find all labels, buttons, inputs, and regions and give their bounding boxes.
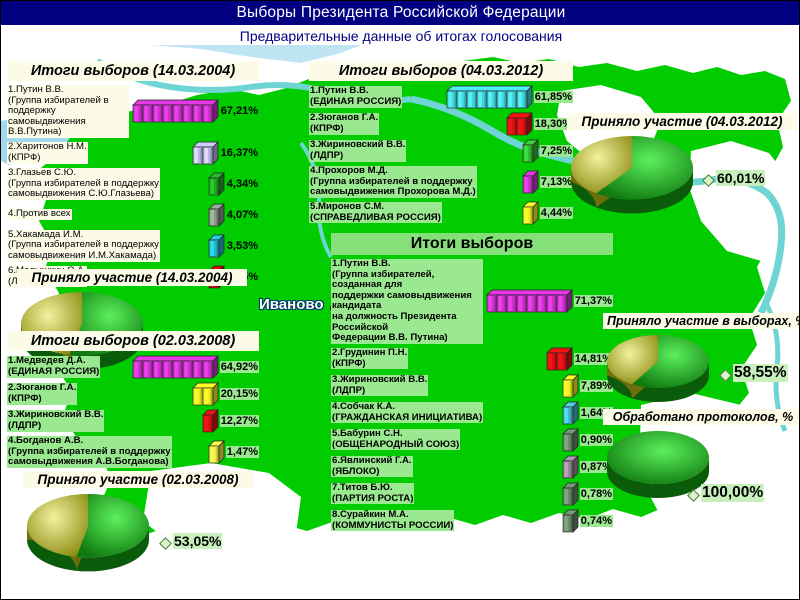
candidate-bar-icon (562, 428, 579, 452)
candidate-bar-group: 3,53% (205, 234, 259, 258)
candidate-bar-icon (562, 374, 579, 398)
candidate-row: 5.Бабурин С.Н.(ОБЩЕНАРОДНЫЙ СОЮЗ)0,90% (331, 428, 613, 452)
pie-title-turnout-2008: Приняло участие (02.03.2008) (23, 471, 253, 488)
candidate-bar-icon (562, 401, 579, 425)
candidate-row: 1.Путин В.В.(Группа избирателей в поддер… (7, 85, 259, 138)
candidate-row: 2.Харитонов Н.М.(КПРФ)16,37% (7, 141, 259, 165)
candidate-bar-icon (522, 170, 539, 194)
candidate-row: 4.Против всех4,07% (7, 203, 259, 227)
candidate-name: 4.Прохоров М.Д.(Группа избирателей в под… (309, 166, 477, 198)
panel-results-2012: Итоги выборов (04.03.2012) 1.Путин В.В.(… (309, 61, 573, 228)
candidate-row: 1.Медведев Д.А.(ЕДИНАЯ РОССИЯ)64,92% (7, 355, 259, 379)
pie-turnout-2008: Приняло участие (02.03.2008) 53,05% (23, 471, 253, 584)
candidate-bar-icon (208, 440, 225, 464)
panel-results-2008: Итоги выборов (02.03.2008) 1.Медведев Д.… (7, 331, 259, 471)
candidate-list-main: 1.Путин В.В.(Группа избирателей, созданн… (331, 259, 613, 533)
candidate-name: 1.Путин В.В.(ЕДИНАЯ РОССИЯ) (309, 86, 402, 107)
candidate-name: 3.Жириновский В.В.(ЛДПР) (7, 410, 104, 431)
candidate-bar-icon (132, 355, 219, 379)
candidate-bar-group: 20,15% (189, 382, 259, 406)
candidate-row: 5.Хакамада И.М.(Группа избирателей в под… (7, 230, 259, 262)
candidate-bar-icon (446, 85, 533, 109)
candidate-row: 7.Титов Б.Ю.(ПАРТИЯ РОСТА)0,78% (331, 482, 613, 506)
candidate-row: 3.Жириновский В.В.(ЛДПР)7,25% (309, 139, 573, 163)
candidate-bar-icon (486, 289, 573, 313)
candidate-row: 4.Прохоров М.Д.(Группа избирателей в под… (309, 166, 573, 198)
candidate-percent: 12,27% (220, 415, 259, 427)
candidate-bar-icon (562, 509, 579, 533)
candidate-bar-group: 7,25% (519, 139, 573, 163)
candidate-bar-group: 67,21% (129, 99, 259, 123)
candidate-bar-icon (562, 482, 579, 506)
candidate-row: 3.Глазьев С.Ю.(Группа избирателей в подд… (7, 168, 259, 200)
candidate-name: 3.Жириновский В.В.(ЛДПР) (309, 140, 406, 161)
candidate-name: 3.Жириновский В.В.(ЛДПР) (331, 375, 428, 396)
candidate-bar-icon (192, 141, 219, 165)
candidate-row: 1.Путин В.В.(ЕДИНАЯ РОССИЯ)61,85% (309, 85, 573, 109)
candidate-row: 2.Зюганов Г.А.(КПРФ)18,30% (309, 112, 573, 136)
candidate-percent: 1,47% (226, 446, 259, 458)
candidate-bar-icon (208, 203, 225, 227)
candidate-name: 5.Бабурин С.Н.(ОБЩЕНАРОДНЫЙ СОЮЗ) (331, 429, 460, 450)
candidate-bar-icon (208, 172, 225, 196)
candidate-name: 4.Богданов А.В.(Группа избирателей в под… (7, 436, 172, 468)
pie-title-protocols: Обработано протоколов, % (603, 409, 800, 425)
pie-title-turnout-2012: Приняло участие (04.03.2012) (567, 113, 797, 130)
candidate-name: 1.Медведев Д.А.(ЕДИНАЯ РОССИЯ) (7, 356, 100, 377)
candidate-row: 1.Путин В.В.(Группа избирателей, созданн… (331, 259, 613, 344)
candidate-bar-group: 64,92% (129, 355, 259, 379)
candidate-percent: 3,53% (226, 240, 259, 252)
candidate-name: 2.Грудинин П.Н.(КПРФ) (331, 348, 408, 369)
candidate-bar-group: 4,44% (519, 201, 573, 225)
page-title: Выборы Президента Российской Федерации (236, 4, 565, 22)
candidate-bar-icon (192, 382, 219, 406)
pie-value-protocols: 100,00% (701, 484, 764, 502)
candidate-bar-icon (522, 139, 539, 163)
candidate-name: 2.Зюганов Г.А.(КПРФ) (7, 383, 77, 404)
pie-value-turnout-2012: 60,01% (716, 170, 765, 186)
candidate-bar-icon (202, 409, 219, 433)
candidate-name: 5.Миронов С.М.(СПРАВЕДЛИВАЯ РОССИЯ) (309, 202, 442, 223)
candidate-percent: 64,92% (220, 361, 259, 373)
candidate-bar-group: 71,37% (483, 289, 613, 313)
pie-value-turnout-2008: 53,05% (173, 533, 222, 549)
candidate-percent: 61,85% (534, 91, 573, 103)
subtitle-bar: Предварительные данные об итогах голосов… (1, 26, 800, 45)
candidate-row: 3.Жириновский В.В.(ЛДПР)7,89% (331, 374, 613, 398)
candidate-row: 8.Сурайкин М.А.(КОММУНИСТЫ РОССИИ)0,74% (331, 509, 613, 533)
candidate-bar-group: 16,37% (189, 141, 259, 165)
candidate-percent: 16,37% (220, 147, 259, 159)
candidate-row: 2.Зюганов Г.А.(КПРФ)20,15% (7, 382, 259, 406)
candidate-percent: 67,21% (220, 105, 259, 117)
candidate-percent: 20,15% (220, 388, 259, 400)
candidate-name: 7.Титов Б.Ю.(ПАРТИЯ РОСТА) (331, 483, 414, 504)
candidate-bar-group: 18,30% (503, 112, 573, 136)
pie-title-turnout-main: Приняло участие в выборах, % (603, 313, 800, 329)
panel-results-main: Итоги выборов 1.Путин В.В.(Группа избира… (331, 233, 613, 536)
candidate-row: 6.Явлинский Г.А.(ЯБЛОКО)0,87% (331, 455, 613, 479)
pie-value-turnout-main: 58,55% (733, 364, 788, 382)
candidate-bar-group: 1,47% (205, 440, 259, 464)
panel-heading-2008: Итоги выборов (02.03.2008) (7, 331, 259, 351)
pie-protocols: Обработано протоколов, % 100,00% (603, 409, 800, 511)
candidate-name: 4.Собчак К.А.(ГРАЖДАНСКАЯ ИНИЦИАТИВА) (331, 402, 483, 423)
candidate-list-2004: 1.Путин В.В.(Группа избирателей в поддер… (7, 85, 259, 289)
title-bar: Выборы Президента Российской Федерации (1, 1, 800, 25)
pie-turnout-2012: Приняло участие (04.03.2012) 60,01% (567, 113, 797, 226)
candidate-row: 4.Собчак К.А.(ГРАЖДАНСКАЯ ИНИЦИАТИВА)1,6… (331, 401, 613, 425)
candidate-name: 5.Хакамада И.М.(Группа избирателей в под… (7, 230, 160, 262)
candidate-name: 6.Явлинский Г.А.(ЯБЛОКО) (331, 456, 413, 477)
candidate-bar-group: 7,13% (519, 170, 573, 194)
pie-turnout-main: Приняло участие в выборах, % 58,55% (603, 313, 800, 415)
candidate-name: 4.Против всех (7, 209, 72, 220)
pie-title-turnout-2004: Приняло участие (14.03.2004) (17, 269, 247, 286)
candidate-name: 2.Харитонов Н.М.(КПРФ) (7, 142, 88, 163)
candidate-bar-icon (522, 201, 539, 225)
candidate-row: 3.Жириновский В.В.(ЛДПР)12,27% (7, 409, 259, 433)
candidate-percent: 4,34% (226, 178, 259, 190)
panel-heading-2004: Итоги выборов (14.03.2004) (7, 61, 259, 81)
city-label-ivanovo: Иваново (259, 296, 324, 313)
candidate-bar-group: 61,85% (443, 85, 573, 109)
candidate-bar-icon (506, 112, 533, 136)
candidate-row: 5.Миронов С.М.(СПРАВЕДЛИВАЯ РОССИЯ)4,44% (309, 201, 573, 225)
candidate-bar-icon (546, 347, 573, 371)
panel-heading-main: Итоги выборов (331, 233, 613, 255)
candidate-name: 3.Глазьев С.Ю.(Группа избирателей в подд… (7, 168, 160, 200)
candidate-list-2008: 1.Медведев Д.А.(ЕДИНАЯ РОССИЯ)64,92%2.Зю… (7, 355, 259, 468)
panel-heading-2012: Итоги выборов (04.03.2012) (309, 61, 573, 81)
candidate-row: 4.Богданов А.В.(Группа избирателей в под… (7, 436, 259, 468)
candidate-name: 1.Путин В.В.(Группа избирателей, созданн… (331, 259, 483, 344)
candidate-bar-group: 4,34% (205, 172, 259, 196)
candidate-name: 2.Зюганов Г.А.(КПРФ) (309, 113, 379, 134)
candidate-name: 1.Путин В.В.(Группа избирателей в поддер… (7, 85, 129, 138)
candidate-row: 2.Грудинин П.Н.(КПРФ)14,81% (331, 347, 613, 371)
candidate-percent: 0,74% (580, 515, 613, 527)
infographic-root: Выборы Президента Российской Федерации П… (0, 0, 800, 600)
candidate-name: 8.Сурайкин М.А.(КОММУНИСТЫ РОССИИ) (331, 510, 454, 531)
candidate-bar-group: 4,07% (205, 203, 259, 227)
candidate-bar-group: 12,27% (199, 409, 259, 433)
panel-results-2004: Итоги выборов (14.03.2004) 1.Путин В.В.(… (7, 61, 259, 292)
page-subtitle: Предварительные данные об итогах голосов… (240, 28, 562, 44)
candidate-bar-icon (132, 99, 219, 123)
candidate-bar-icon (562, 455, 579, 479)
candidate-list-2012: 1.Путин В.В.(ЕДИНАЯ РОССИЯ)61,85%2.Зюган… (309, 85, 573, 225)
candidate-bar-group: 0,74% (559, 509, 613, 533)
candidate-percent: 71,37% (574, 295, 613, 307)
candidate-percent: 4,07% (226, 209, 259, 221)
candidate-bar-icon (208, 234, 225, 258)
